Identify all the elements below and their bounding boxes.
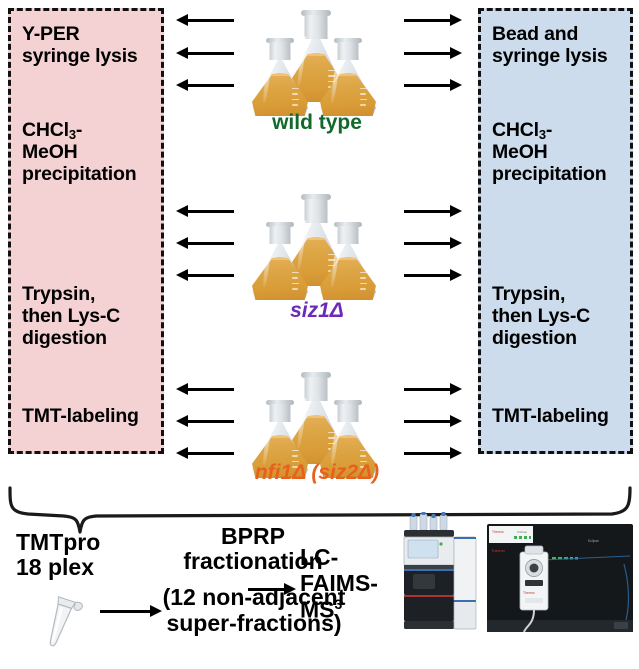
analysis-line2: FAIMS- (300, 570, 378, 596)
arrow-left-nfi1-2 (176, 418, 234, 425)
strain-label-wild-type: wild type (252, 112, 382, 133)
left-step2-line2: MeOH (22, 141, 78, 163)
arrow-right-nfi1-2 (404, 418, 462, 425)
right-step2-line1-pre: CHCl (492, 119, 539, 141)
arrow-left-wt-2 (176, 50, 234, 57)
bprp-line1: BPRP (221, 523, 285, 549)
right-step2-line3: precipitation (492, 163, 606, 185)
flask-icon (252, 222, 308, 300)
right-step3-line2: then Lys-C (492, 305, 590, 327)
svg-text:Thermo: Thermo (523, 591, 535, 595)
arrow-right-wt-3 (404, 82, 462, 89)
tmtpro-line1: TMTpro (16, 529, 100, 555)
arrow-left-siz1-1 (176, 208, 234, 215)
svg-text:Eclipse: Eclipse (588, 539, 599, 543)
arrow-right-siz1-3 (404, 272, 462, 279)
arrow-right-nfi1-3 (404, 450, 462, 457)
right-step2-subscript: 3 (539, 127, 546, 142)
left-step-chcl3-meoh-precipitation: CHCl3- MeOH precipitation (22, 119, 136, 186)
right-step-chcl3-meoh-precipitation: CHCl3- MeOH precipitation (492, 119, 606, 186)
svg-text:Thermo: Thermo (492, 530, 504, 534)
arrow-left-wt-3 (176, 82, 234, 89)
left-step2-line3: precipitation (22, 163, 136, 185)
right-step1-line2: syringe lysis (492, 45, 608, 67)
strain-label-nfi1-delta: nfi1Δ (siz2Δ) (237, 462, 397, 483)
right-step3-line3: digestion (492, 327, 577, 349)
arrow-right-siz1-1 (404, 208, 462, 215)
arrow-left-siz1-3 (176, 272, 234, 279)
lc-system-icon (404, 512, 476, 629)
arrow-right-siz1-2 (404, 240, 462, 247)
left-step3-line2: then Lys-C (22, 305, 120, 327)
analysis-line3-superscript: 3 (335, 596, 343, 612)
arrow-bprp-to-lc (248, 586, 296, 593)
workflow-figure: Y-PER syringe lysis CHCl3- MeOH precipit… (0, 0, 639, 669)
right-protocol-panel: Bead and syringe lysis CHCl3- MeOH preci… (478, 8, 633, 454)
left-step3-line1: Trypsin, (22, 283, 95, 305)
arrow-right-nfi1-1 (404, 386, 462, 393)
left-step1-line1: Y-PER (22, 23, 80, 45)
left-step2-line1-pre: CHCl (22, 119, 69, 141)
left-step2-line1-post: - (76, 119, 82, 141)
analysis-line3: MS (300, 596, 335, 622)
left-step-trypsin-lysc-digestion: Trypsin, then Lys-C digestion (22, 283, 120, 350)
mass-spectrometer-icon: Thermo Orbitrap Thermo Eclipse (487, 524, 633, 632)
left-step1-line2: syringe lysis (22, 45, 138, 67)
right-step1-line1: Bead and (492, 23, 578, 45)
left-step-tmt-labeling: TMT-labeling (22, 405, 139, 427)
instrument-illustration: Thermo Orbitrap Thermo Eclipse (392, 512, 636, 648)
left-step3-line3: digestion (22, 327, 107, 349)
left-step2-subscript: 3 (69, 127, 76, 142)
strain-label-siz1-delta: siz1Δ (252, 300, 382, 321)
right-step-tmt-labeling: TMT-labeling (492, 405, 609, 427)
arrow-right-wt-1 (404, 17, 462, 24)
left-step-y-per-lysis: Y-PER syringe lysis (22, 23, 138, 67)
flask-group-siz1-delta (252, 192, 382, 312)
flask-icon (320, 222, 376, 300)
svg-text:Orbitrap: Orbitrap (517, 530, 528, 534)
right-step-trypsin-lysc-digestion: Trypsin, then Lys-C digestion (492, 283, 590, 350)
arrow-left-siz1-2 (176, 240, 234, 247)
arrow-left-nfi1-3 (176, 450, 234, 457)
right-step-bead-syringe-lysis: Bead and syringe lysis (492, 23, 608, 67)
microcentrifuge-tube-icon (28, 588, 88, 660)
tmtpro-label: TMTpro 18 plex (16, 530, 100, 581)
flask-icon (320, 38, 376, 116)
lc-faims-ms3-label: LC- FAIMS- MS3 (300, 545, 378, 623)
svg-text:Thermo: Thermo (491, 548, 506, 553)
arrow-left-nfi1-1 (176, 386, 234, 393)
analysis-line1: LC- (300, 544, 338, 570)
left-protocol-panel: Y-PER syringe lysis CHCl3- MeOH precipit… (8, 8, 164, 454)
flask-icon (252, 38, 308, 116)
flask-group-wild-type (252, 8, 382, 128)
right-step2-line2: MeOH (492, 141, 548, 163)
right-step3-line1: Trypsin, (492, 283, 565, 305)
arrow-right-wt-2 (404, 50, 462, 57)
right-step2-line1-post: - (546, 119, 552, 141)
arrow-left-wt-1 (176, 17, 234, 24)
arrow-tmtpro-to-bprp (100, 608, 162, 615)
tmtpro-line2: 18 plex (16, 554, 94, 580)
